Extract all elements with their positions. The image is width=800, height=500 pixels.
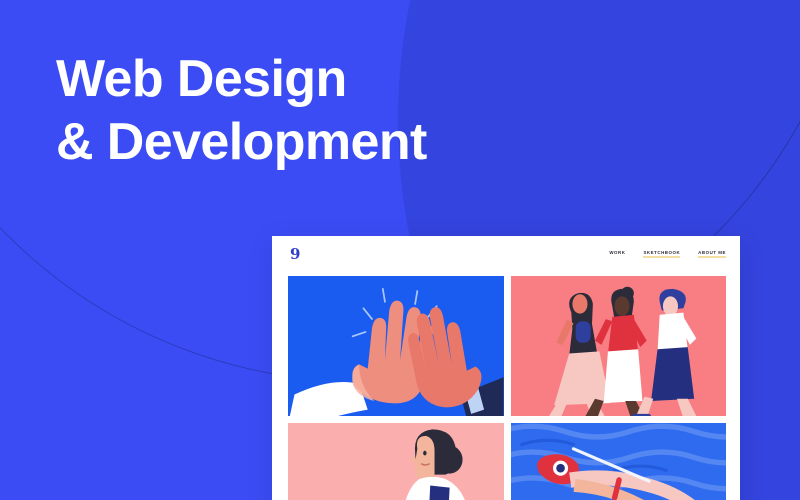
woman-profile-portrait-icon xyxy=(288,423,504,500)
page-title: Web Design & Development xyxy=(56,48,616,175)
portfolio-tile-swimmer[interactable] xyxy=(511,423,727,500)
portfolio-tile-profile-portrait[interactable] xyxy=(288,423,504,500)
three-walking-women-icon xyxy=(511,276,727,416)
nav-item-sketchbook[interactable]: SKETCHBOOK xyxy=(643,250,680,258)
portfolio-tile-walking-women[interactable] xyxy=(511,276,727,416)
nav-item-work[interactable]: WORK xyxy=(609,250,625,258)
portfolio-tile-high-five[interactable] xyxy=(288,276,504,416)
brand-logo-icon[interactable]: 9 xyxy=(290,247,300,262)
poster-canvas: Web Design & Development 9 WORK SKETCHBO… xyxy=(0,0,800,500)
mockup-navbar: 9 WORK SKETCHBOOK ABOUT ME xyxy=(272,236,740,272)
website-mockup-card: 9 WORK SKETCHBOOK ABOUT ME xyxy=(272,236,740,500)
mockup-nav-links: WORK SKETCHBOOK ABOUT ME xyxy=(609,250,726,258)
high-five-hands-icon xyxy=(288,276,504,416)
swimmer-in-water-icon xyxy=(511,423,727,500)
nav-item-about-me[interactable]: ABOUT ME xyxy=(698,250,726,258)
mockup-portfolio-grid xyxy=(272,272,740,500)
